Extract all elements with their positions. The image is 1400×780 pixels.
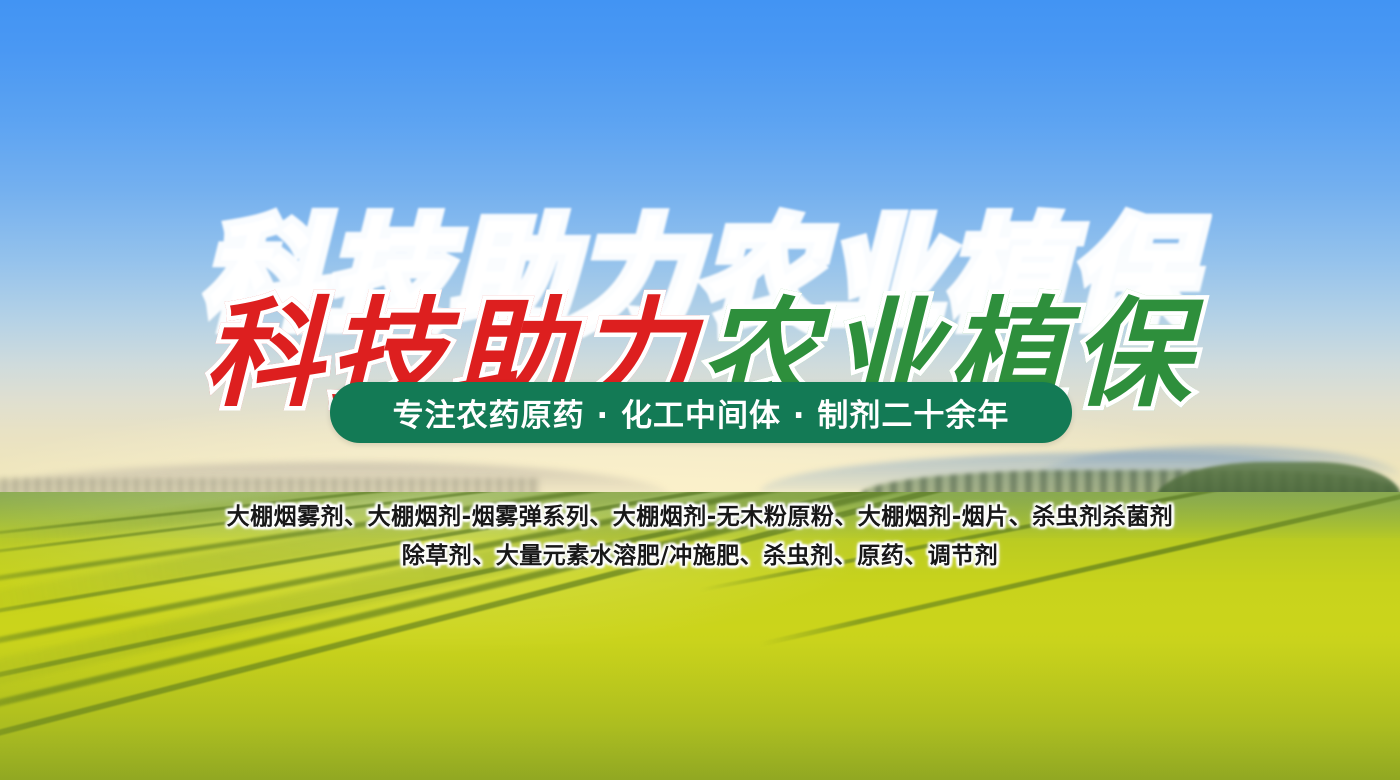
product-line-1: 大棚烟雾剂、大棚烟剂-烟雾弹系列、大棚烟剂-无木粉原粉、大棚烟剂-烟片、杀虫剂杀… [0,498,1400,537]
subtitle-pill-text: 专注农药原药 · 化工中间体 · 制剂二十余年 [393,390,1010,435]
field-foreground-shading [0,642,1400,780]
promo-banner: 科技助力农业植保 科技助力农业植保 专注农药原药 · 化工中间体 · 制剂二十余… [0,0,1400,780]
product-line-2: 除草剂、大量元素水溶肥/冲施肥、杀虫剂、原药、调节剂 [0,537,1400,576]
product-list: 大棚烟雾剂、大棚烟剂-烟雾弹系列、大棚烟剂-无木粉原粉、大棚烟剂-烟片、杀虫剂杀… [0,498,1400,576]
subtitle-pill: 专注农药原药 · 化工中间体 · 制剂二十余年 [330,382,1072,443]
